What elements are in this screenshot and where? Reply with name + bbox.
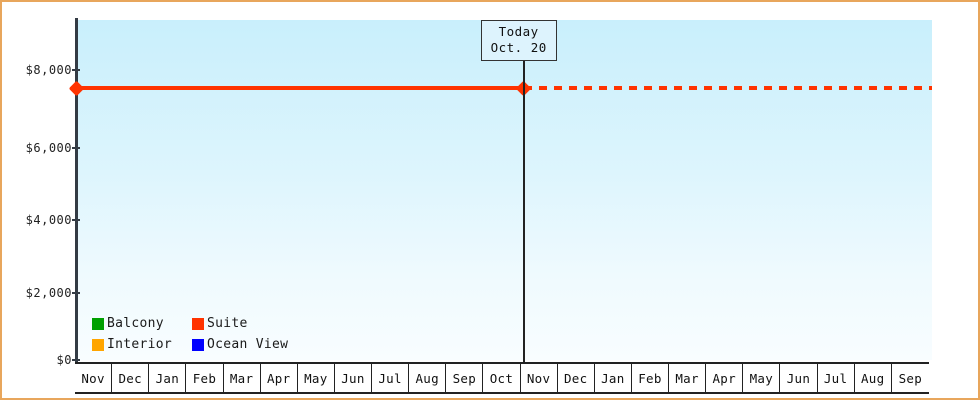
legend-swatch-icon [192,318,204,330]
y-axis-tick-label: $6,000 [10,142,72,154]
x-axis-month-cell: Nov [75,364,112,392]
x-axis-month-cell: Jan [149,364,186,392]
legend-swatch-icon [192,339,204,351]
legend-swatch-icon [92,339,104,351]
y-axis-tick [72,219,80,221]
x-axis-month-cell: Feb [632,364,669,392]
legend-entry-balcony[interactable]: Balcony [92,313,182,334]
x-axis-month-strip: NovDecJanFebMarAprMayJunJulAugSepOctNovD… [75,362,929,394]
x-axis-month-cell: Dec [558,364,595,392]
x-axis-month-cell: Mar [224,364,261,392]
today-box-line-2: Oct. 20 [491,40,547,56]
x-axis-month-cell: Jun [780,364,817,392]
x-axis-month-cell: Aug [409,364,446,392]
x-axis-month-cell: Apr [261,364,298,392]
y-axis-labels: $8,000$6,000$4,000$2,000$0 [2,2,72,402]
y-axis-tick-label: $0 [10,354,72,366]
x-axis-month-cell: Jun [335,364,372,392]
series-line-solid-suite [78,86,524,90]
x-axis-month-cell: Jul [372,364,409,392]
legend-label: Balcony [107,317,164,330]
legend-entry-suite[interactable]: Suite [192,313,288,334]
today-box-line-1: Today [491,24,547,40]
y-axis-tick [72,292,80,294]
y-axis-tick-label: $4,000 [10,214,72,226]
x-axis-month-cell: Dec [112,364,149,392]
chart-legend: BalconySuiteInteriorOcean View [92,313,288,355]
x-axis-month-cell: May [743,364,780,392]
y-axis-tick-label: $8,000 [10,64,72,76]
x-axis-month-cell: Sep [446,364,483,392]
x-axis-month-cell: Nov [521,364,558,392]
x-axis-month-cell: Sep [892,364,929,392]
legend-label: Ocean View [207,338,288,351]
y-axis-tick [72,359,80,361]
y-axis-tick-label: $2,000 [10,287,72,299]
y-axis-tick [72,69,80,71]
x-axis-month-cell: Oct [483,364,520,392]
x-axis-month-cell: May [298,364,335,392]
legend-label: Interior [107,338,172,351]
legend-entry-ocean-view[interactable]: Ocean View [192,334,288,355]
x-axis-month-cell: Jan [595,364,632,392]
plot-area [78,20,932,360]
x-axis-month-cell: Aug [855,364,892,392]
x-axis-month-cell: Jul [818,364,855,392]
chart-frame: $8,000$6,000$4,000$2,000$0 Today Oct. 20… [0,0,980,400]
x-axis-month-cell: Feb [186,364,223,392]
x-axis-month-cell: Mar [669,364,706,392]
today-annotation-box: Today Oct. 20 [481,20,557,61]
today-vertical-line [523,20,525,366]
legend-swatch-icon [92,318,104,330]
legend-label: Suite [207,317,248,330]
y-axis-tick [72,147,80,149]
x-axis-month-cell: Apr [706,364,743,392]
series-line-dashed-suite [524,86,932,90]
legend-entry-interior[interactable]: Interior [92,334,182,355]
